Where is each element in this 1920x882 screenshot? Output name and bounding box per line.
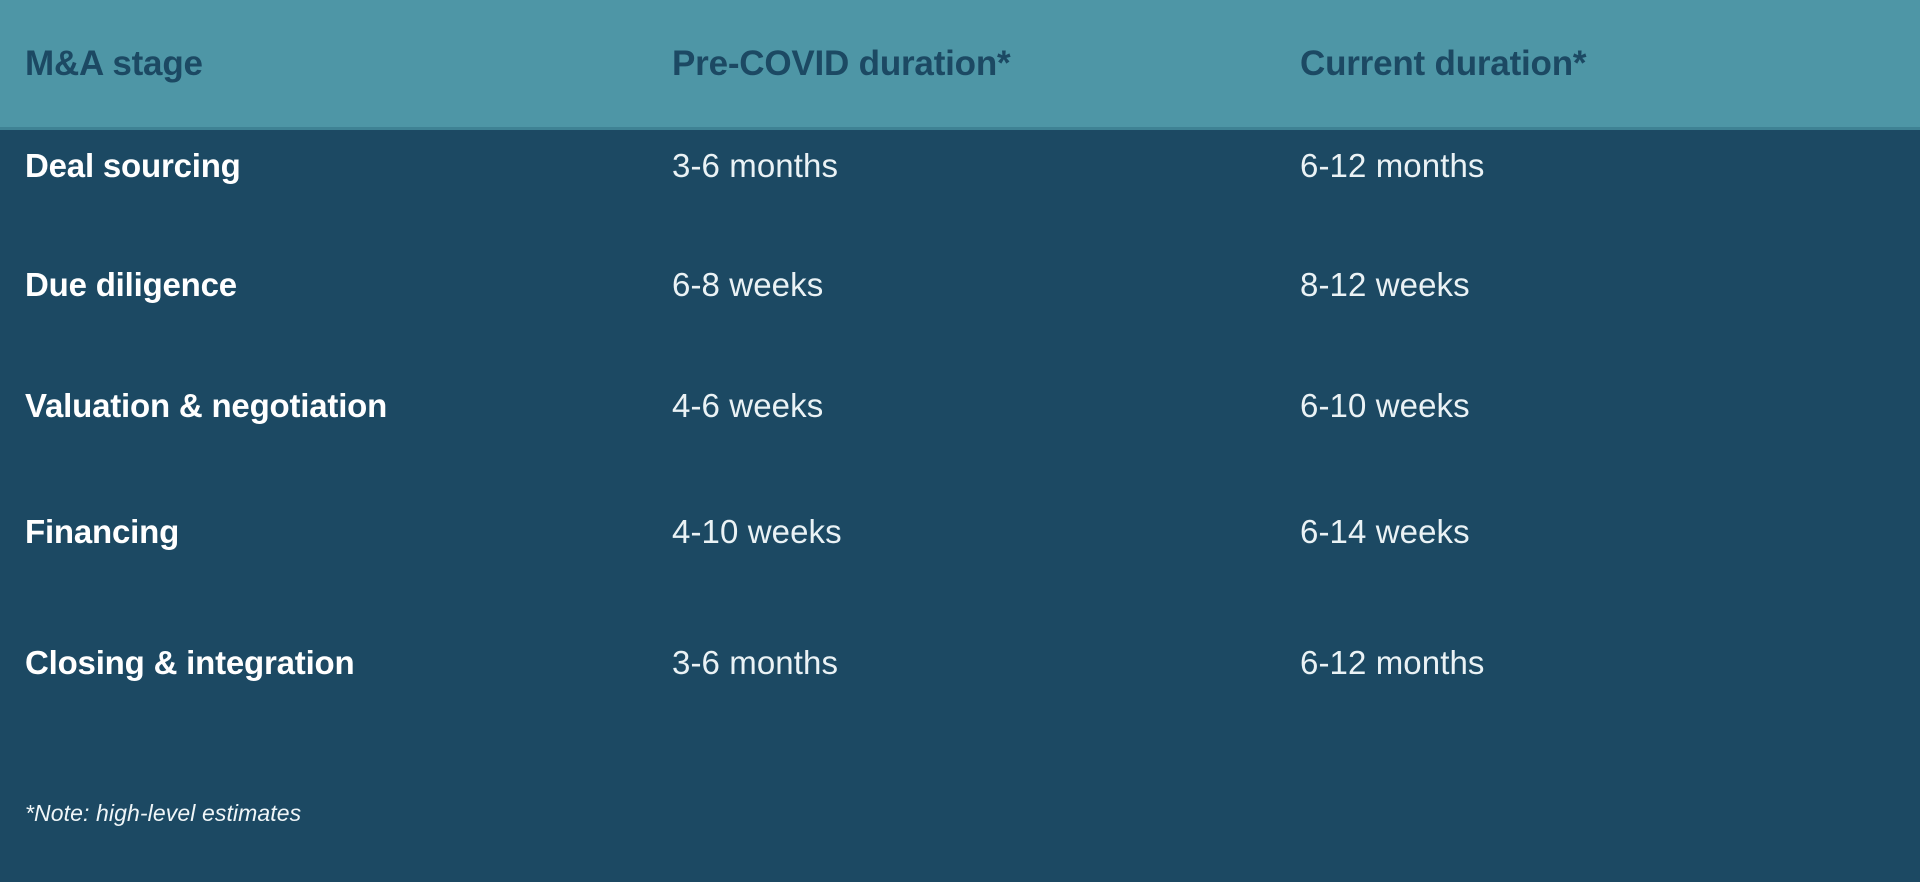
table-row: Financing 4-10 weeks 6-14 weeks bbox=[0, 496, 1920, 622]
cell-pre-covid-duration: 3-6 months bbox=[672, 130, 1282, 202]
cell-pre-covid-duration: 3-6 months bbox=[672, 627, 1282, 699]
cell-stage: Closing & integration bbox=[25, 627, 645, 699]
cell-current-duration: 6-12 months bbox=[1300, 130, 1900, 202]
cell-current-duration: 8-12 weeks bbox=[1300, 249, 1900, 321]
cell-stage: Due diligence bbox=[25, 249, 645, 321]
table-body: Deal sourcing 3-6 months 6-12 months Due… bbox=[0, 130, 1920, 882]
table-row: Closing & integration 3-6 months 6-12 mo… bbox=[0, 627, 1920, 753]
cell-stage: Deal sourcing bbox=[25, 130, 645, 202]
table-header-row: M&A stage Pre-COVID duration* Current du… bbox=[0, 0, 1920, 130]
table-row: Due diligence 6-8 weeks 8-12 weeks bbox=[0, 249, 1920, 375]
table-row: Valuation & negotiation 4-6 weeks 6-10 w… bbox=[0, 370, 1920, 496]
cell-pre-covid-duration: 4-10 weeks bbox=[672, 496, 1282, 568]
column-header-current-duration: Current duration* bbox=[1300, 0, 1900, 127]
column-header-pre-covid-duration: Pre-COVID duration* bbox=[672, 0, 1282, 127]
cell-stage: Financing bbox=[25, 496, 645, 568]
cell-stage: Valuation & negotiation bbox=[25, 370, 645, 442]
cell-current-duration: 6-10 weeks bbox=[1300, 370, 1900, 442]
cell-pre-covid-duration: 4-6 weeks bbox=[672, 370, 1282, 442]
table-row: Deal sourcing 3-6 months 6-12 months bbox=[0, 130, 1920, 256]
table-footnote: *Note: high-level estimates bbox=[25, 800, 301, 827]
ma-duration-table: M&A stage Pre-COVID duration* Current du… bbox=[0, 0, 1920, 882]
column-header-stage: M&A stage bbox=[25, 0, 645, 127]
cell-pre-covid-duration: 6-8 weeks bbox=[672, 249, 1282, 321]
cell-current-duration: 6-14 weeks bbox=[1300, 496, 1900, 568]
cell-current-duration: 6-12 months bbox=[1300, 627, 1900, 699]
